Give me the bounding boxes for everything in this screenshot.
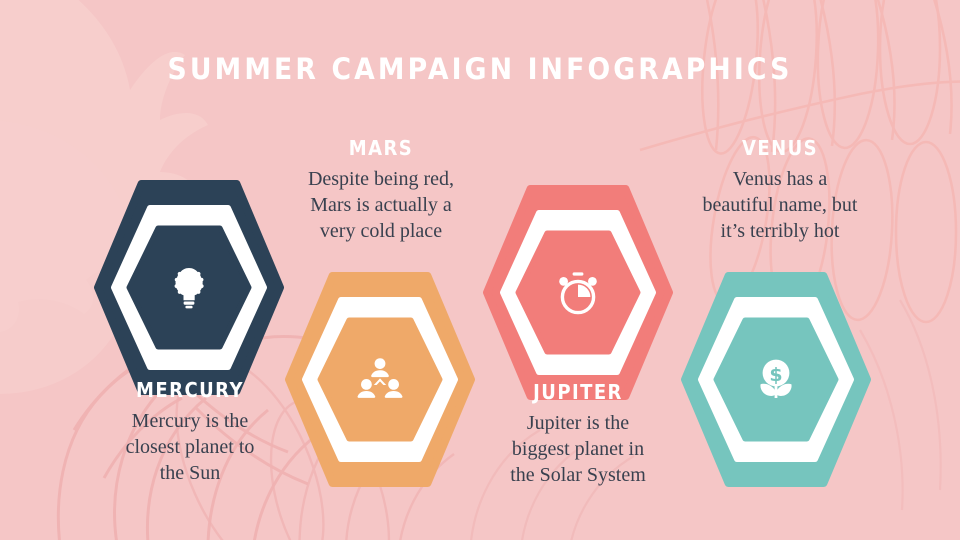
planet-desc-jupiter: Jupiter is the biggest planet in the Sol…: [478, 410, 678, 488]
planet-desc-venus: Venus has a beautiful name, but it’s ter…: [672, 166, 888, 244]
hexagon-mars[interactable]: [285, 272, 475, 487]
planet-desc-mercury: Mercury is the closest planet to the Sun: [95, 408, 285, 486]
text-block-jupiter: JUPITER Jupiter is the biggest planet in…: [478, 382, 678, 488]
planet-desc-mars: Despite being red, Mars is actually a ve…: [282, 166, 480, 244]
planet-name-jupiter: JUPITER: [488, 382, 668, 403]
people-group-icon: [285, 272, 475, 487]
brain-bulb-icon: [94, 180, 284, 395]
text-block-mercury: MERCURY Mercury is the closest planet to…: [95, 380, 285, 486]
page-title: SUMMER CAMPAIGN INFOGRAPHICS: [38, 52, 921, 86]
text-block-mars: MARS Despite being red, Mars is actually…: [282, 138, 480, 244]
money-plant-icon: $: [681, 272, 871, 487]
svg-text:$: $: [769, 363, 782, 385]
infographic-slide: SUMMER CAMPAIGN INFOGRAPHICS: [0, 0, 960, 540]
planet-name-mercury: MERCURY: [105, 380, 276, 401]
planet-name-venus: VENUS: [683, 138, 877, 159]
hexagon-jupiter[interactable]: [483, 185, 673, 400]
stopwatch-icon: [483, 185, 673, 400]
planet-name-mars: MARS: [292, 138, 470, 159]
hexagon-mercury[interactable]: [94, 180, 284, 395]
hexagon-venus[interactable]: $: [681, 272, 871, 487]
text-block-venus: VENUS Venus has a beautiful name, but it…: [672, 138, 888, 244]
